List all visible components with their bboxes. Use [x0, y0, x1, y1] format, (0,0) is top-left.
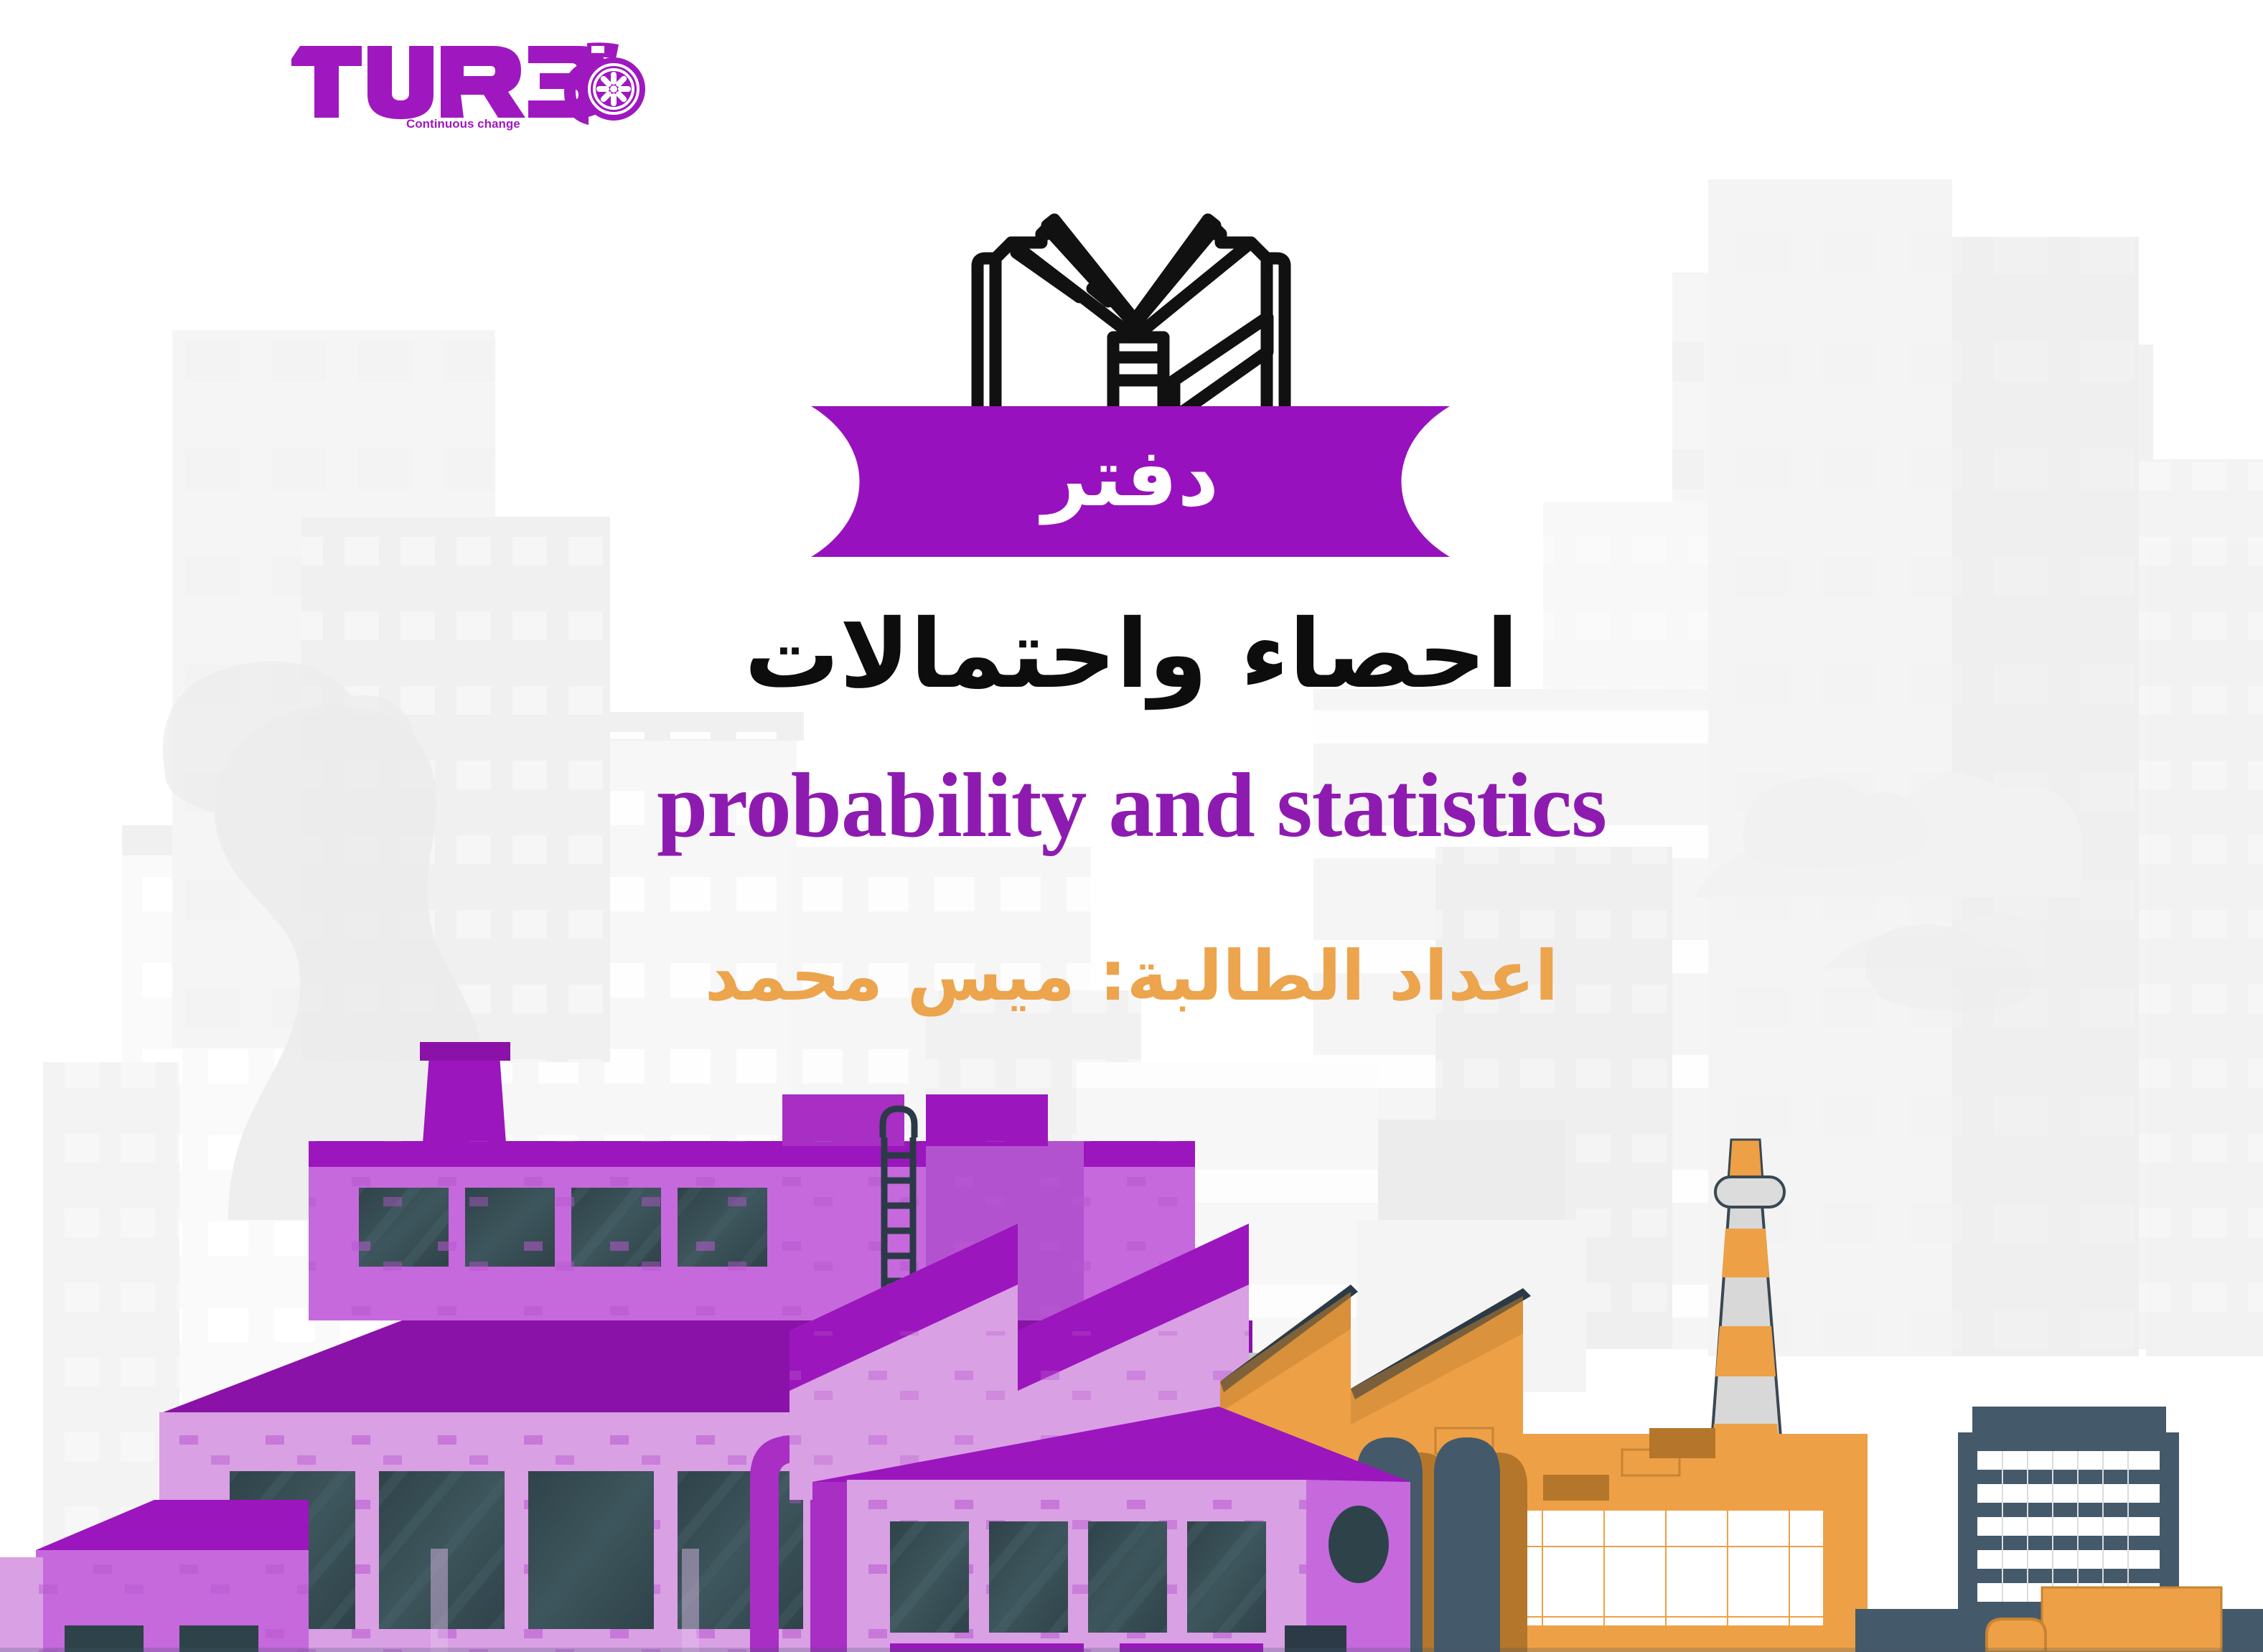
banner-ribbon: دفتر — [811, 403, 1450, 560]
cover-page: Continuous change — [0, 0, 2263, 1652]
banner-label: دفتر — [811, 403, 1450, 560]
logo-tagline: Continuous change — [406, 117, 520, 131]
author-line: اعداد الطالبة: ميس محمد — [0, 937, 2263, 1015]
page-title-english: probability and statistics — [0, 757, 2263, 853]
turbo-logo[interactable]: Continuous change — [287, 37, 646, 131]
page-title-arabic: احصاء واحتمالات — [0, 603, 2263, 707]
open-book-icon — [959, 210, 1303, 418]
